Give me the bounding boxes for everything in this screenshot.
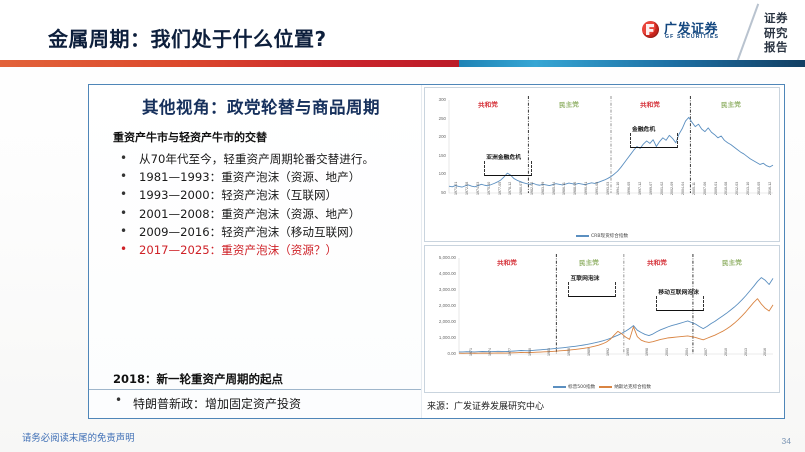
y-axis-tick: 50 (427, 190, 446, 195)
brand-name-en: GF SECURITIES (665, 34, 719, 40)
x-axis-tick: 1986 (567, 348, 571, 356)
legend-label: CRB现货综合指数 (591, 233, 628, 239)
list-item-highlighted: 2017—2025：重资产泡沫（资源？） (113, 242, 413, 259)
x-axis-tick: 1998 (645, 348, 649, 356)
bullet-list: 从70年代至今，轻重资产周期轮番交替进行。 1981—1993：重资产泡沫（资源… (113, 151, 413, 260)
panel-heading: 其他视角：政党轮替与商品周期 (105, 94, 417, 118)
source-attribution: 来源：广发证券发展研究中心 (427, 399, 544, 412)
x-axis-tick: 2010 (724, 348, 728, 356)
x-axis-tick: 1977-05 (498, 182, 502, 195)
panel-subheading: 重资产牛市与轻资产牛市的交替 (113, 129, 267, 145)
chart-legend: CRB现货综合指数 (425, 233, 779, 239)
chart-annotation: 互联网泡沫 (570, 273, 599, 282)
x-axis-tick: 2013 (744, 348, 748, 356)
report-type-label: 证券 研究 报告 (764, 11, 788, 55)
x-axis-tick: 1974-03 (476, 182, 480, 195)
x-axis-tick: 1995 (626, 348, 630, 356)
x-axis-tick: 2009-01 (714, 182, 718, 195)
slide-root: 金属周期：我们处于什么位置? 广发证券 GF SECURITIES 证券 研究 … (0, 0, 805, 452)
y-axis-tick: 300 (427, 97, 446, 102)
divider-cool-segment (459, 60, 805, 67)
x-axis-tick: 1997-12 (638, 182, 642, 195)
y-axis-tick: 0.00 (427, 351, 456, 356)
x-axis-tick: 1985-04 (552, 182, 556, 195)
list-item: 1981—1993：重资产泡沫（资源、地产） (113, 169, 413, 186)
x-axis-tick: 2010-08 (724, 182, 728, 195)
x-axis-tick: 1972-08 (465, 182, 469, 195)
legend-label: 标普500指数 (568, 384, 595, 390)
accent-divider-bar (0, 60, 805, 67)
text-column: 其他视角：政党轮替与商品周期 重资产牛市与轻资产牛市的交替 从70年代至今，轻重… (89, 85, 421, 418)
y-axis-tick: 1,000.00 (427, 335, 456, 340)
y-axis-tick: 5,000.00 (427, 255, 456, 260)
legend-entry: 纳斯达克综合指数 (599, 384, 651, 390)
divider-warm-segment (0, 60, 459, 67)
x-axis-tick: 1993-03 (606, 182, 610, 195)
x-axis-tick: 1990-01 (584, 182, 588, 195)
equity-index-chart: 共和党民主党共和党民主党互联网泡沫移动互联网泡沫5,000.004,000.00… (424, 245, 780, 393)
x-axis-tick: 1989 (587, 348, 591, 356)
legend-swatch (599, 386, 612, 388)
y-axis-tick: 100 (427, 171, 446, 176)
charts-column: 共和党民主党共和党民主党亚洲金融危机金融危机300250200150100501… (421, 85, 784, 418)
x-axis-tick: 1980 (528, 348, 532, 356)
x-axis-tick: 2002-09 (670, 182, 674, 195)
era-band-label: 共和党 (477, 98, 497, 109)
x-axis-tick: 1994-10 (616, 182, 620, 195)
x-axis-tick: 2013-10 (746, 182, 750, 195)
y-axis-tick: 250 (427, 116, 446, 121)
x-axis-tick: 1971-01 (454, 182, 458, 195)
x-axis-tick: 2015-05 (757, 182, 761, 195)
list-item: 从70年代至今，轻重资产周期轮番交替进行。 (113, 151, 413, 168)
x-axis-tick: 1975-10 (487, 182, 491, 195)
page-number: 34 (782, 436, 791, 446)
report-type-line-3: 报告 (764, 40, 788, 55)
x-axis-tick: 1971 (469, 348, 473, 356)
chart-annotation: 亚洲金融危机 (486, 152, 521, 161)
x-axis-tick: 1996-05 (627, 182, 631, 195)
annotation-bracket (630, 133, 678, 148)
x-axis-tick: 2004-04 (681, 182, 685, 195)
y-axis-tick: 2,000.00 (427, 319, 456, 324)
annotation-bracket (568, 282, 616, 297)
x-axis-tick: 1992 (606, 348, 610, 356)
brand-logo: 广发证券 GF SECURITIES 证券 研究 报告 (604, 6, 799, 58)
y-axis-tick: 2,000.00 (427, 303, 456, 308)
page-title: 金属周期：我们处于什么位置? (48, 23, 327, 52)
logo-divider-slash (737, 4, 759, 61)
report-type-line-2: 研究 (764, 26, 788, 41)
x-axis-tick: 1983-09 (541, 182, 545, 195)
x-axis-tick: 2004 (685, 348, 689, 356)
x-axis-tick: 2016 (763, 348, 767, 356)
legend-swatch (576, 235, 589, 237)
footnote-divider (89, 389, 421, 390)
y-axis-tick: 4,000.00 (427, 271, 456, 276)
list-item: 1993—2000：轻资产泡沫（互联网） (113, 187, 413, 204)
equity-index-chart-plot (425, 246, 779, 392)
x-axis-tick: 2005-11 (692, 182, 696, 195)
chart-legend: 标普500指数纳斯达克综合指数 (425, 384, 779, 390)
footnote-heading: 2018：新一轮重资产周期的起点 (113, 371, 283, 387)
x-axis-tick: 2012-03 (735, 182, 739, 195)
era-band-label: 共和党 (647, 256, 667, 267)
footnote-bullet: 特朗普新政：增加固定资产投资 (133, 395, 301, 412)
era-band-label: 共和党 (496, 256, 516, 267)
gf-logo-icon (642, 21, 659, 38)
x-axis-tick: 2016-12 (768, 182, 772, 195)
legend-entry: CRB现货综合指数 (576, 233, 628, 239)
legend-label: 纳斯达克综合指数 (614, 384, 651, 390)
x-axis-tick: 2007 (704, 348, 708, 356)
x-axis-tick: 1980-07 (519, 182, 523, 195)
x-axis-tick: 1983 (547, 348, 551, 356)
x-axis-tick: 1988-06 (573, 182, 577, 195)
legend-swatch (553, 386, 566, 388)
x-axis-tick: 2007-06 (703, 182, 707, 195)
x-axis-tick: 1982-02 (530, 182, 534, 195)
content-panel: 其他视角：政党轮替与商品周期 重资产牛市与轻资产牛市的交替 从70年代至今，轻重… (88, 84, 785, 419)
y-axis-tick: 3,000.00 (427, 287, 456, 292)
y-axis-tick: 150 (427, 153, 446, 158)
x-axis-tick: 1978-12 (508, 182, 512, 195)
x-axis-tick: 2001-02 (660, 182, 664, 195)
x-axis-tick: 1977 (508, 348, 512, 356)
report-type-line-1: 证券 (764, 11, 788, 26)
x-axis-tick: 1991-08 (595, 182, 599, 195)
list-item: 2001—2008：重资产泡沫（资源、地产） (113, 206, 413, 223)
chart-annotation: 金融危机 (632, 124, 655, 133)
commodity-index-chart-plot (425, 88, 779, 241)
x-axis-tick: 1999-07 (649, 182, 653, 195)
era-band-label: 民主党 (722, 256, 742, 267)
slide-header: 金属周期：我们处于什么位置? 广发证券 GF SECURITIES 证券 研究 … (0, 0, 805, 60)
era-band-label: 民主党 (720, 98, 740, 109)
y-axis-tick: 200 (427, 134, 446, 139)
legend-entry: 标普500指数 (553, 384, 595, 390)
annotation-bracket (484, 161, 532, 176)
x-axis-tick: 1974 (488, 348, 492, 356)
era-band-label: 共和党 (639, 98, 659, 109)
commodity-index-chart: 共和党民主党共和党民主党亚洲金融危机金融危机300250200150100501… (424, 87, 780, 242)
x-axis-tick: 2001 (665, 348, 669, 356)
x-axis-tick: 1986-11 (562, 182, 566, 195)
list-item: 2009—2016：轻资产泡沫（移动互联网） (113, 224, 413, 241)
era-band-label: 民主党 (558, 98, 578, 109)
series-line (459, 299, 773, 354)
chart-annotation: 移动互联网泡沫 (658, 287, 699, 296)
era-band-label: 民主党 (579, 256, 599, 267)
disclaimer-text: 请务必阅读末尾的免责声明 (22, 430, 135, 444)
annotation-bracket (656, 296, 704, 311)
